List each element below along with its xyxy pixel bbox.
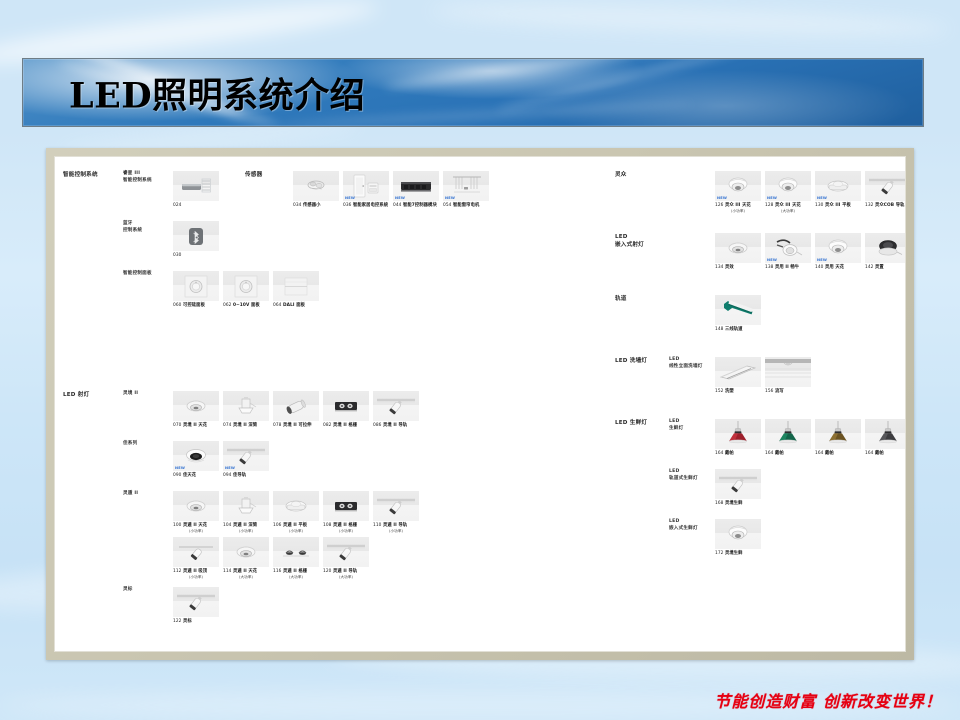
- product-caption: 030: [173, 253, 219, 259]
- category-title: LED 射灯: [63, 391, 89, 399]
- product-caption: 126 灵众 III 天花(小功率): [715, 203, 761, 214]
- product-thumbnail[interactable]: [323, 491, 369, 521]
- product-thumbnail[interactable]: NEW: [765, 171, 811, 201]
- product-thumbnail[interactable]: [373, 491, 419, 521]
- product-thumbnail[interactable]: [715, 469, 761, 499]
- product-caption: 086 灵境 II 导轨: [373, 423, 419, 429]
- footer-slogan: 节能创造财富 创新改变世界！: [714, 688, 942, 712]
- product-code: 104: [223, 523, 232, 528]
- product-caption: 036 智能家居电控系统: [343, 203, 389, 209]
- category-title: LED 洗墙灯: [615, 357, 647, 365]
- product-cell[interactable]: 142 灵置: [865, 233, 906, 271]
- product-code: 116: [273, 569, 282, 574]
- new-badge: NEW: [175, 466, 185, 470]
- product-code: 168: [715, 501, 724, 506]
- product-row: 168 灵境生鲜: [715, 469, 761, 507]
- product-name: 洗塑: [725, 389, 734, 394]
- product-cell[interactable]: NEW130 灵众 III 平板: [815, 171, 861, 214]
- product-cell[interactable]: 074 灵境 II 深筒: [223, 391, 269, 429]
- product-cell[interactable]: 172 灵境生鲜: [715, 519, 761, 557]
- product-cell[interactable]: 110 灵遁 II 导轨(小功率): [373, 491, 419, 534]
- new-badge: NEW: [817, 258, 827, 262]
- product-code: 132: [865, 203, 874, 208]
- product-thumbnail[interactable]: [715, 419, 761, 449]
- product-code: 062: [223, 303, 232, 308]
- category-title: 传感器: [245, 171, 262, 179]
- product-row: 164 戴帕 164 戴帕 164 戴帕 164 戴帕: [715, 419, 906, 457]
- category-title: LED 生鲜灯: [615, 419, 647, 427]
- product-caption: 082 灵境 II 格栅: [323, 423, 369, 429]
- product-cell[interactable]: 152 洗塑: [715, 357, 761, 395]
- product-code: 030: [173, 253, 182, 258]
- product-name: 戴帕: [825, 451, 834, 456]
- product-code: 164: [765, 451, 774, 456]
- product-caption: 094 佳导轨: [223, 473, 269, 479]
- product-code: 070: [173, 423, 182, 428]
- background-cloud-streak: [430, 0, 951, 41]
- product-code: 156: [765, 389, 774, 394]
- product-row: 070 灵境 II 天花 074 灵境 II 深筒 078 灵境 II 可拉伸 …: [173, 391, 419, 429]
- product-name: 灵标: [183, 619, 192, 624]
- product-size: (小功率): [173, 529, 219, 534]
- catalog-frame: 智能控制系统睿星 III 智能控制系统 024蓝牙 控制系统 030智能控制面板…: [46, 148, 914, 660]
- product-size: (小功率): [715, 209, 761, 214]
- product-code: 086: [373, 423, 382, 428]
- product-name: 灵遁 II 天花: [183, 523, 207, 528]
- product-row: NEW126 灵众 III 天花(小功率) NEW128 灵众 III 天花(大…: [715, 171, 906, 214]
- subcategory-title: 灵标: [123, 587, 133, 594]
- product-row: 172 灵境生鲜: [715, 519, 761, 557]
- subcategory-title: 蓝牙 控制系统: [123, 221, 142, 235]
- page-title: LED照明系统介绍: [69, 67, 365, 118]
- product-name: 流写: [775, 389, 784, 394]
- new-badge: NEW: [817, 196, 827, 200]
- product-thumbnail[interactable]: [223, 391, 269, 421]
- product-cell[interactable]: NEW054 智能窗帘电机: [443, 171, 489, 209]
- product-row: 030: [173, 221, 219, 259]
- product-thumbnail[interactable]: NEW: [715, 171, 761, 201]
- category-title: 轨道: [615, 295, 627, 303]
- product-cell[interactable]: 164 戴帕: [815, 419, 861, 457]
- product-cell[interactable]: NEW126 灵众 III 天花(小功率): [715, 171, 761, 214]
- new-badge: NEW: [445, 196, 455, 200]
- category-title: 灵众: [615, 171, 627, 179]
- product-size: (小功率): [323, 529, 369, 534]
- product-caption: 134 灵效: [715, 265, 761, 271]
- product-size: (小功率): [173, 575, 219, 580]
- product-caption: 172 灵境生鲜: [715, 551, 761, 557]
- product-code: 036: [343, 203, 352, 208]
- product-row: 148 三线轨道: [715, 295, 761, 333]
- product-code: 164: [815, 451, 824, 456]
- product-cell[interactable]: 156 流写: [765, 357, 811, 395]
- product-size: (大功率): [223, 575, 269, 580]
- product-cell[interactable]: 024: [173, 171, 219, 209]
- product-thumbnail[interactable]: [223, 271, 269, 301]
- product-name: 三线轨道: [725, 327, 743, 332]
- product-name: 戴帕: [775, 451, 784, 456]
- subcategory-title: LED 线性立面洗墙灯: [669, 357, 703, 371]
- product-code: 100: [173, 523, 182, 528]
- product-code: 164: [715, 451, 724, 456]
- product-name: 灵境生鲜: [725, 551, 743, 556]
- product-name: 戴帕: [725, 451, 734, 456]
- product-code: 064: [273, 303, 282, 308]
- product-cell[interactable]: 108 灵遁 II 格栅(小功率): [323, 491, 369, 534]
- product-thumbnail[interactable]: [765, 419, 811, 449]
- product-row: 034 传感器小 NEW036 智能家居电控系统 NEW044 智能7控制器模块…: [293, 171, 489, 209]
- product-name: 灵众 III 天花: [775, 203, 801, 208]
- product-name: 灵境生鲜: [725, 501, 743, 506]
- product-row: 122 灵标: [173, 587, 219, 625]
- product-name: 灵境 II 深筒: [233, 423, 257, 428]
- new-badge: NEW: [717, 196, 727, 200]
- product-caption: 108 灵遁 II 格栅(小功率): [323, 523, 369, 534]
- product-code: 148: [715, 327, 724, 332]
- product-name: 戴帕: [875, 451, 884, 456]
- product-code: 106: [273, 523, 282, 528]
- product-name: 佳导轨: [233, 473, 246, 478]
- product-code: 094: [223, 473, 232, 478]
- product-caption: 034 传感器小: [293, 203, 339, 209]
- product-caption: 078 灵境 II 可拉伸: [273, 423, 319, 429]
- product-thumbnail[interactable]: [173, 491, 219, 521]
- product-caption: 112 灵遁 II 吸顶(小功率): [173, 569, 219, 580]
- new-badge: NEW: [767, 258, 777, 262]
- product-thumbnail[interactable]: [223, 537, 269, 567]
- product-code: 034: [293, 203, 302, 208]
- category-title: LED 嵌入式射灯: [615, 233, 644, 250]
- subcategory-title: 佳系列: [123, 441, 137, 448]
- product-thumbnail[interactable]: [323, 391, 369, 421]
- subcategory-title: LED 生鲜灯: [669, 419, 683, 433]
- product-thumbnail[interactable]: [173, 271, 219, 301]
- product-code: 024: [173, 203, 182, 208]
- product-code: 060: [173, 303, 182, 308]
- product-cell[interactable]: NEW128 灵众 III 天花(大功率): [765, 171, 811, 214]
- product-caption: 132 灵众COB 导轨: [865, 203, 906, 209]
- product-caption: 106 灵遁 II 平板(小功率): [273, 523, 319, 534]
- product-name: 灵遁 II 吸顶: [183, 569, 207, 574]
- product-thumbnail[interactable]: [173, 391, 219, 421]
- product-thumbnail[interactable]: [715, 233, 761, 263]
- subcategory-title: 智能控制面板: [123, 271, 152, 278]
- product-cell[interactable]: NEW140 灵用 天花: [815, 233, 861, 271]
- product-code: 172: [715, 551, 724, 556]
- product-caption: 120 灵遁 II 导轨(大功率): [323, 569, 369, 580]
- product-code: 110: [373, 523, 382, 528]
- subcategory-title: LED 轨道式生鲜灯: [669, 469, 698, 483]
- product-name: 灵众 III 天花: [725, 203, 751, 208]
- product-code: 122: [173, 619, 182, 624]
- product-caption: 024: [173, 203, 219, 209]
- product-name: 灵遁 II 格栅: [283, 569, 307, 574]
- product-row: 060 可控硅面板 062 0~10V 面板 064 DALI 面板: [173, 271, 319, 309]
- product-name: 灵境 II 格栅: [333, 423, 357, 428]
- product-name: 0~10V 面板: [233, 303, 260, 308]
- product-caption: 164 戴帕: [815, 451, 861, 457]
- catalog-page: 智能控制系统睿星 III 智能控制系统 024蓝牙 控制系统 030智能控制面板…: [54, 156, 906, 652]
- new-badge: NEW: [767, 196, 777, 200]
- product-thumbnail[interactable]: [715, 357, 761, 387]
- product-caption: 128 灵众 III 天花(大功率): [765, 203, 811, 214]
- product-caption: 164 戴帕: [865, 451, 906, 457]
- product-thumbnail[interactable]: [715, 519, 761, 549]
- product-name: 灵遁 II 深筒: [233, 523, 257, 528]
- product-name: 灵众COB 导轨: [875, 203, 905, 208]
- product-thumbnail[interactable]: NEW: [173, 441, 219, 471]
- product-name: 灵效: [725, 265, 734, 270]
- product-name: 佳天花: [183, 473, 196, 478]
- product-name: 灵境 II 天花: [183, 423, 207, 428]
- product-thumbnail[interactable]: NEW: [443, 171, 489, 201]
- product-code: 082: [323, 423, 332, 428]
- product-thumbnail[interactable]: NEW: [343, 171, 389, 201]
- product-cell[interactable]: 168 灵境生鲜: [715, 469, 761, 507]
- product-code: 140: [815, 265, 824, 270]
- product-cell[interactable]: NEW036 智能家居电控系统: [343, 171, 389, 209]
- product-name: 传感器小: [303, 203, 321, 208]
- product-cell[interactable]: NEW044 智能7控制器模块: [393, 171, 439, 209]
- product-name: 灵境 II 导轨: [383, 423, 407, 428]
- product-thumbnail[interactable]: [173, 171, 219, 201]
- product-thumbnail[interactable]: [373, 391, 419, 421]
- product-row: 134 灵效 NEW138 灵用 II 畅牛 NEW140 灵用 天花 142 …: [715, 233, 906, 271]
- product-caption: 164 戴帕: [715, 451, 761, 457]
- product-code: 126: [715, 203, 724, 208]
- product-caption: 044 智能7控制器模块: [393, 203, 439, 209]
- product-name: 灵遁 II 天花: [233, 569, 257, 574]
- product-caption: 116 灵遁 II 格栅(大功率): [273, 569, 319, 580]
- product-size: (大功率): [273, 575, 319, 580]
- product-size: (小功率): [223, 529, 269, 534]
- product-cell[interactable]: NEW094 佳导轨: [223, 441, 269, 479]
- product-code: 134: [715, 265, 724, 270]
- product-caption: 104 灵遁 II 深筒(小功率): [223, 523, 269, 534]
- product-code: 114: [223, 569, 232, 574]
- product-thumbnail[interactable]: NEW: [223, 441, 269, 471]
- product-caption: 122 灵标: [173, 619, 219, 625]
- product-thumbnail[interactable]: [273, 537, 319, 567]
- product-caption: 114 灵遁 II 天花(大功率): [223, 569, 269, 580]
- product-caption: 148 三线轨道: [715, 327, 761, 333]
- product-thumbnail[interactable]: [293, 171, 339, 201]
- product-name: 智能7控制器模块: [403, 203, 437, 208]
- product-code: 138: [765, 265, 774, 270]
- product-code: 142: [865, 265, 874, 270]
- product-code: 130: [815, 203, 824, 208]
- product-thumbnail[interactable]: NEW: [815, 233, 861, 263]
- product-caption: 060 可控硅面板: [173, 303, 219, 309]
- product-caption: 138 灵用 II 畅牛: [765, 265, 811, 271]
- product-name: 智能家居电控系统: [353, 203, 388, 208]
- product-thumbnail[interactable]: [815, 419, 861, 449]
- product-cell[interactable]: 030: [173, 221, 219, 259]
- product-cell[interactable]: 082 灵境 II 格栅: [323, 391, 369, 429]
- product-caption: 054 智能窗帘电机: [443, 203, 489, 209]
- product-code: 054: [443, 203, 452, 208]
- product-thumbnail[interactable]: NEW: [765, 233, 811, 263]
- product-size: (小功率): [273, 529, 319, 534]
- product-caption: 140 灵用 天花: [815, 265, 861, 271]
- product-caption: 152 洗塑: [715, 389, 761, 395]
- product-name: 灵用 天花: [825, 265, 844, 270]
- product-thumbnail[interactable]: [865, 419, 906, 449]
- product-thumbnail[interactable]: NEW: [393, 171, 439, 201]
- product-caption: 090 佳天花: [173, 473, 219, 479]
- product-thumbnail[interactable]: [173, 221, 219, 251]
- product-cell[interactable]: NEW138 灵用 II 畅牛: [765, 233, 811, 271]
- product-row: 112 灵遁 II 吸顶(小功率) 114 灵遁 II 天花(大功率) 116 …: [173, 537, 369, 580]
- product-cell[interactable]: 164 戴帕: [865, 419, 906, 457]
- product-thumbnail[interactable]: [223, 491, 269, 521]
- product-thumbnail[interactable]: [173, 587, 219, 617]
- product-name: 灵遁 II 格栅: [333, 523, 357, 528]
- product-name: 灵置: [875, 265, 884, 270]
- product-cell[interactable]: 132 灵众COB 导轨: [865, 171, 906, 214]
- product-name: 灵境 II 可拉伸: [283, 423, 312, 428]
- product-cell[interactable]: 114 灵遁 II 天花(大功率): [223, 537, 269, 580]
- product-code: 164: [865, 451, 874, 456]
- product-name: 灵用 II 畅牛: [775, 265, 799, 270]
- product-cell[interactable]: 034 传感器小: [293, 171, 339, 209]
- product-code: 044: [393, 203, 402, 208]
- product-code: 078: [273, 423, 282, 428]
- product-cell[interactable]: 062 0~10V 面板: [223, 271, 269, 309]
- product-cell[interactable]: NEW090 佳天花: [173, 441, 219, 479]
- product-cell[interactable]: 122 灵标: [173, 587, 219, 625]
- product-cell[interactable]: 148 三线轨道: [715, 295, 761, 333]
- product-cell[interactable]: 112 灵遁 II 吸顶(小功率): [173, 537, 219, 580]
- product-cell[interactable]: 164 戴帕: [765, 419, 811, 457]
- subcategory-title: 灵境 II: [123, 391, 138, 398]
- subcategory-title: LED 嵌入式生鲜灯: [669, 519, 698, 533]
- product-cell[interactable]: 120 灵遁 II 导轨(大功率): [323, 537, 369, 580]
- product-caption: 062 0~10V 面板: [223, 303, 269, 309]
- product-row: 100 灵遁 II 天花(小功率) 104 灵遁 II 深筒(小功率) 106 …: [173, 491, 419, 534]
- product-caption: 130 灵众 III 平板: [815, 203, 861, 209]
- slide-title-banner: LED照明系统介绍: [22, 58, 924, 127]
- product-caption: 070 灵境 II 天花: [173, 423, 219, 429]
- product-name: 灵众 III 平板: [825, 203, 851, 208]
- subcategory-title: 睿星 III 智能控制系统: [123, 171, 152, 185]
- product-thumbnail[interactable]: [273, 271, 319, 301]
- product-name: 灵遁 II 平板: [283, 523, 307, 528]
- product-caption: 156 流写: [765, 389, 811, 395]
- product-code: 128: [765, 203, 774, 208]
- product-caption: 142 灵置: [865, 265, 906, 271]
- product-size: (大功率): [765, 209, 811, 214]
- product-cell[interactable]: 116 灵遁 II 格栅(大功率): [273, 537, 319, 580]
- product-caption: 074 灵境 II 深筒: [223, 423, 269, 429]
- category-title: 智能控制系统: [63, 171, 98, 179]
- product-caption: 110 灵遁 II 导轨(小功率): [373, 523, 419, 534]
- product-thumbnail[interactable]: [273, 491, 319, 521]
- product-cell[interactable]: 086 灵境 II 导轨: [373, 391, 419, 429]
- product-thumbnail[interactable]: [715, 295, 761, 325]
- product-cell[interactable]: 100 灵遁 II 天花(小功率): [173, 491, 219, 534]
- product-code: 152: [715, 389, 724, 394]
- product-cell[interactable]: 164 戴帕: [715, 419, 761, 457]
- product-row: 024: [173, 171, 219, 209]
- product-thumbnail[interactable]: [273, 391, 319, 421]
- new-badge: NEW: [345, 196, 355, 200]
- product-thumbnail[interactable]: [865, 171, 906, 201]
- product-name: 灵遁 II 导轨: [383, 523, 407, 528]
- product-size: (大功率): [323, 575, 369, 580]
- product-caption: 064 DALI 面板: [273, 303, 319, 309]
- product-code: 112: [173, 569, 182, 574]
- new-badge: NEW: [395, 196, 405, 200]
- product-cell[interactable]: 060 可控硅面板: [173, 271, 219, 309]
- product-caption: 168 灵境生鲜: [715, 501, 761, 507]
- product-code: 120: [323, 569, 332, 574]
- product-caption: 164 戴帕: [765, 451, 811, 457]
- product-name: 智能窗帘电机: [453, 203, 479, 208]
- product-thumbnail[interactable]: [765, 357, 811, 387]
- new-badge: NEW: [225, 466, 235, 470]
- product-row: 152 洗塑 156 流写: [715, 357, 811, 395]
- product-cell[interactable]: 104 灵遁 II 深筒(小功率): [223, 491, 269, 534]
- product-code: 090: [173, 473, 182, 478]
- product-size: (小功率): [373, 529, 419, 534]
- subcategory-title: 灵遁 II: [123, 491, 138, 498]
- product-thumbnail[interactable]: NEW: [815, 171, 861, 201]
- product-name: 灵遁 II 导轨: [333, 569, 357, 574]
- product-name: 可控硅面板: [183, 303, 205, 308]
- product-caption: 100 灵遁 II 天花(小功率): [173, 523, 219, 534]
- product-code: 108: [323, 523, 332, 528]
- product-thumbnail[interactable]: [323, 537, 369, 567]
- product-cell[interactable]: 078 灵境 II 可拉伸: [273, 391, 319, 429]
- product-cell[interactable]: 134 灵效: [715, 233, 761, 271]
- product-cell[interactable]: 064 DALI 面板: [273, 271, 319, 309]
- product-thumbnail[interactable]: [865, 233, 906, 263]
- product-thumbnail[interactable]: [173, 537, 219, 567]
- product-cell[interactable]: 070 灵境 II 天花: [173, 391, 219, 429]
- product-name: DALI 面板: [283, 303, 305, 308]
- product-cell[interactable]: 106 灵遁 II 平板(小功率): [273, 491, 319, 534]
- product-code: 074: [223, 423, 232, 428]
- product-row: NEW090 佳天花 NEW094 佳导轨: [173, 441, 269, 479]
